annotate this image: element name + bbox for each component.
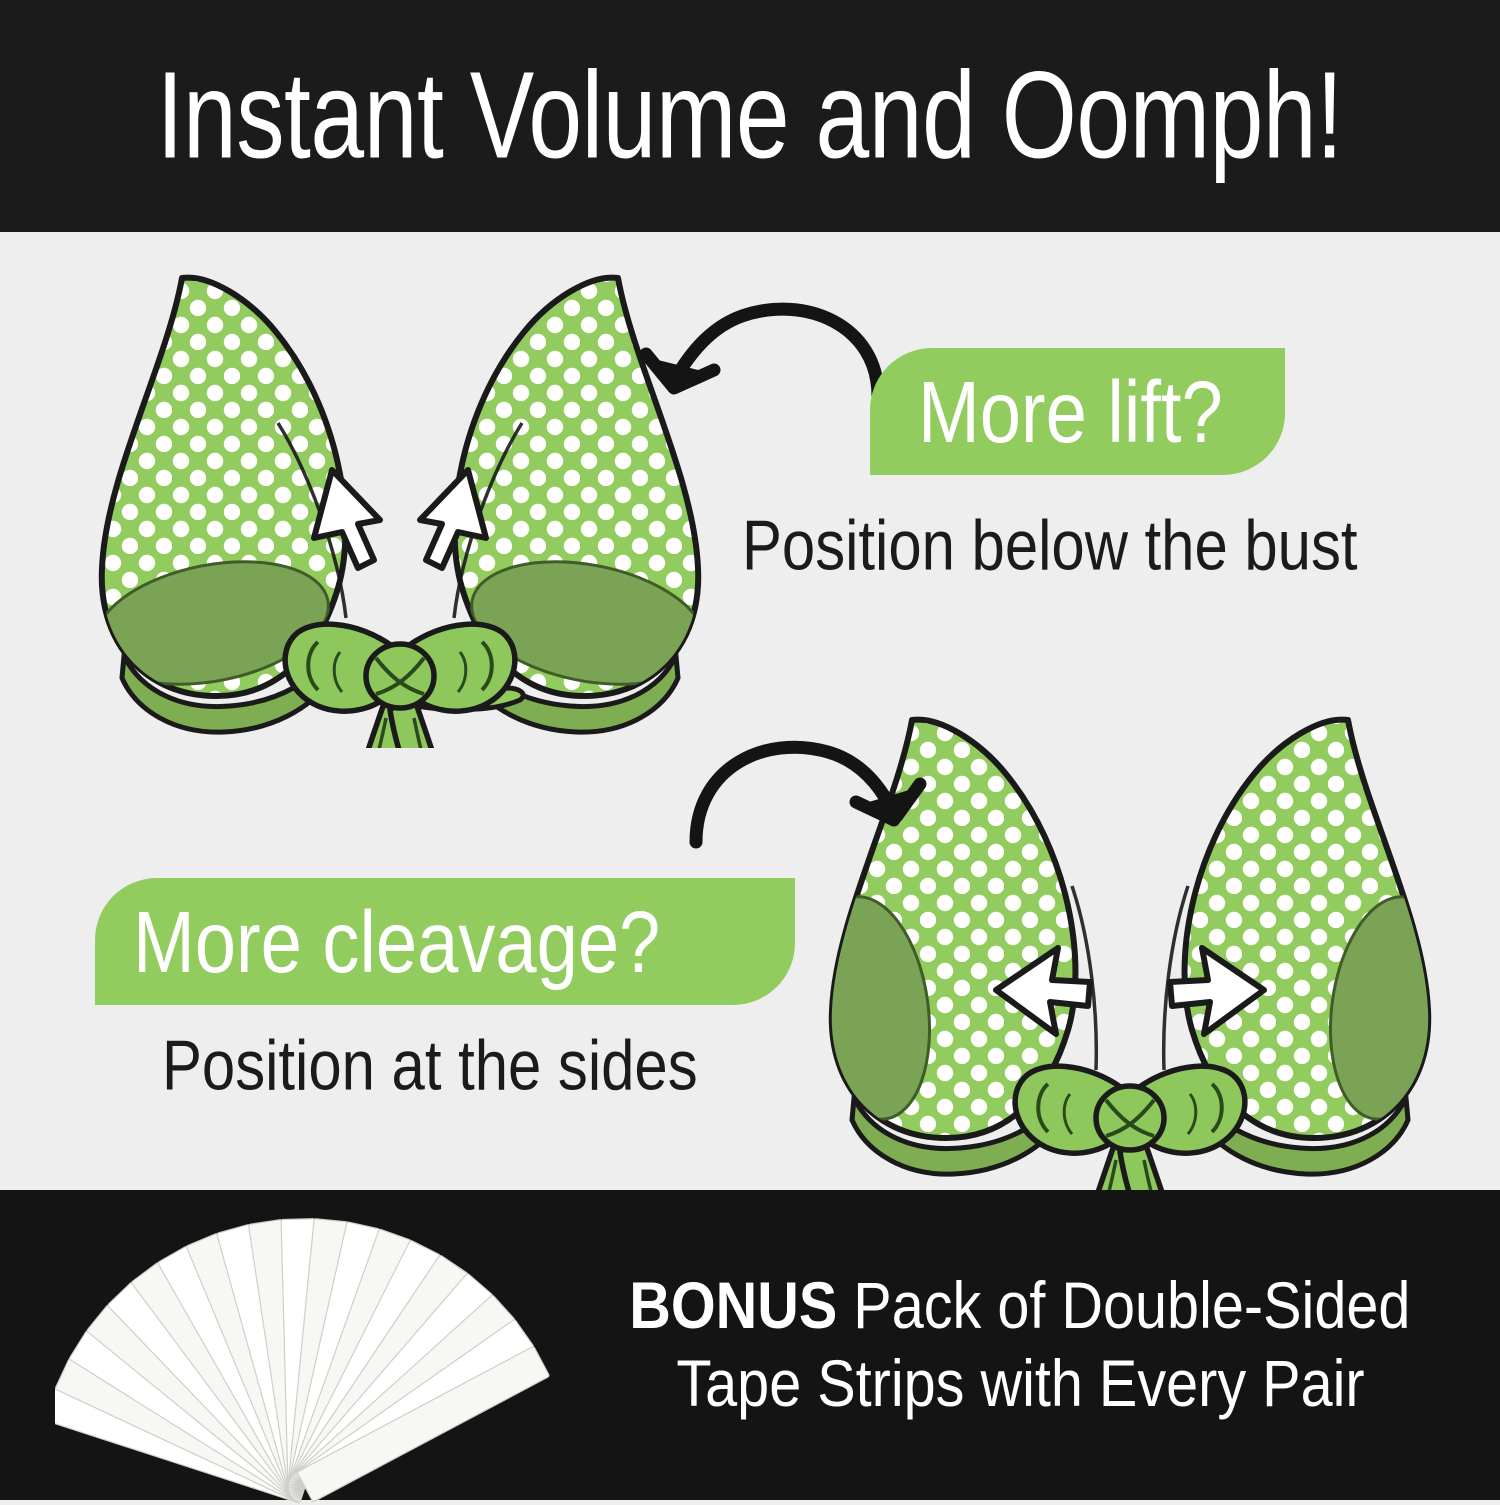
bubble-more-cleavage[interactable]: More cleavage? xyxy=(95,878,795,1005)
page-title: Instant Volume and Oomph! xyxy=(157,45,1343,187)
footer-line-1: BONUS Pack of Double-Sided xyxy=(629,1263,1410,1349)
ribbon-bow-icon xyxy=(1015,1066,1245,1190)
caption-more-lift: Position below the bust xyxy=(742,506,1358,587)
curved-arrow-icon-top xyxy=(610,278,910,408)
ribbon-bow-icon xyxy=(285,624,523,748)
footer-text-block: BONUS Pack of Double-Sided Tape Strips w… xyxy=(560,1245,1480,1445)
tape-strip-group xyxy=(55,1219,550,1504)
bonus-word: BONUS xyxy=(629,1269,837,1343)
caption-more-cleavage: Position at the sides xyxy=(162,1026,698,1107)
bubble-label-cleavage: More cleavage? xyxy=(133,898,660,985)
bubble-label-lift: More lift? xyxy=(918,368,1223,455)
footer-line-1-rest: Pack of Double-Sided xyxy=(837,1269,1410,1343)
bubble-more-lift[interactable]: More lift? xyxy=(870,348,1285,475)
curved-arrow-icon-bottom xyxy=(668,712,948,852)
footer-line-2: Tape Strips with Every Pair xyxy=(676,1341,1364,1427)
tape-strips-fan-illustration xyxy=(55,1195,575,1505)
header-band: Instant Volume and Oomph! xyxy=(0,0,1500,232)
